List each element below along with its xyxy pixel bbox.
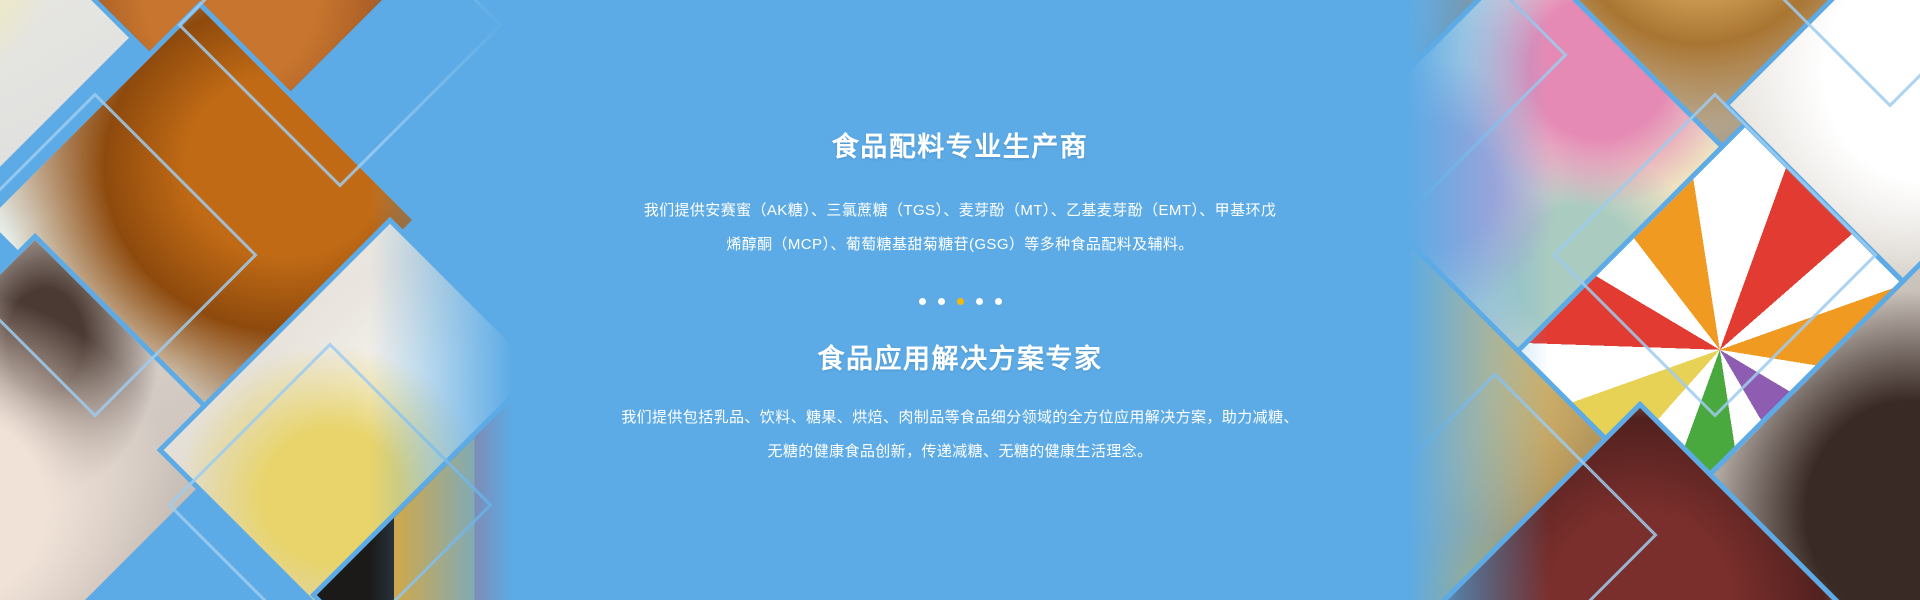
divider-dot-4	[976, 298, 983, 305]
section-two-paragraph-line-2: 无糖的健康食品创新，传递减糖、无糖的健康生活理念。	[570, 435, 1350, 469]
section-one-paragraph-line-2: 烯醇酮（MCP）、葡萄糖基甜菊糖苷(GSG）等多种食品配料及辅料。	[570, 228, 1350, 262]
section-two-headline: 食品应用解决方案专家	[570, 343, 1350, 375]
section-two: 食品应用解决方案专家 我们提供包括乳品、饮料、糖果、烘焙、肉制品等食品细分领域的…	[570, 343, 1350, 469]
divider-dot-2	[938, 298, 945, 305]
section-one: 食品配料专业生产商 我们提供安赛蜜（AK糖）、三氯蔗糖（TGS）、麦芽酚（MT）…	[570, 131, 1350, 261]
divider-dot-1	[919, 298, 926, 305]
hero-banner: 食品配料专业生产商 我们提供安赛蜜（AK糖）、三氯蔗糖（TGS）、麦芽酚（MT）…	[0, 0, 1920, 600]
banner-content: 食品配料专业生产商 我们提供安赛蜜（AK糖）、三氯蔗糖（TGS）、麦芽酚（MT）…	[0, 0, 1920, 600]
section-one-paragraph-line-1: 我们提供安赛蜜（AK糖）、三氯蔗糖（TGS）、麦芽酚（MT）、乙基麦芽酚（EMT…	[570, 194, 1350, 228]
section-one-headline: 食品配料专业生产商	[570, 131, 1350, 163]
divider-dot-3-accent	[957, 298, 964, 305]
divider-dot-5	[995, 298, 1002, 305]
section-divider-dots	[919, 298, 1002, 305]
section-two-paragraph-line-1: 我们提供包括乳品、饮料、糖果、烘焙、肉制品等食品细分领域的全方位应用解决方案，助…	[570, 401, 1350, 435]
